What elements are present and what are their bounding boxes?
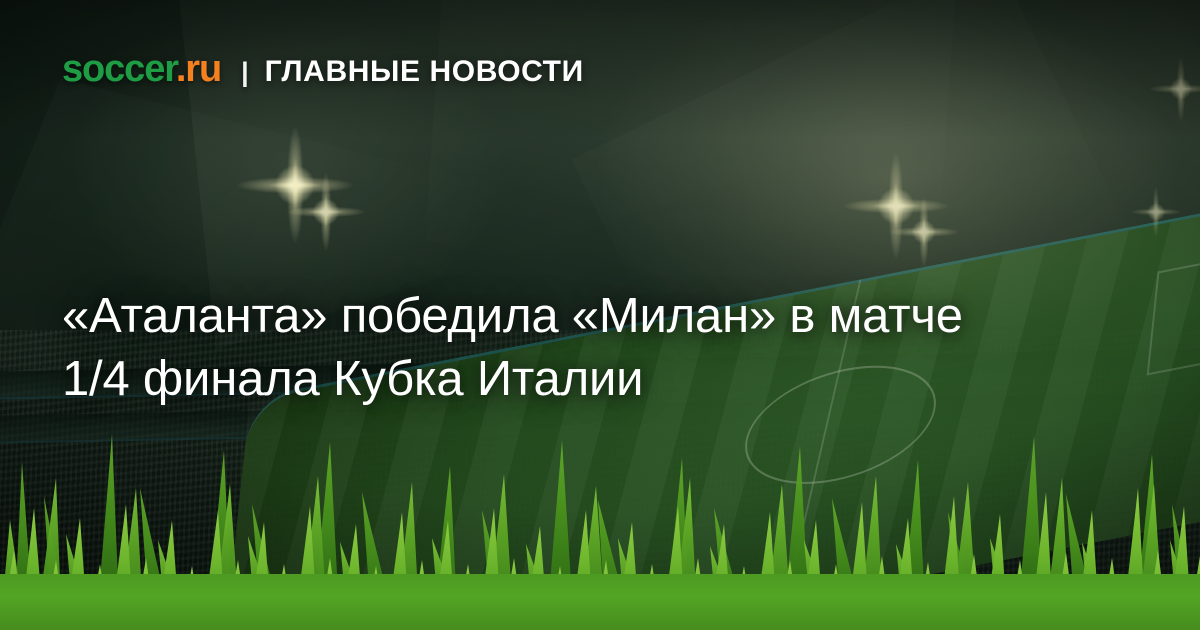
- floodlight-flare-icon: [888, 196, 960, 268]
- section-label: ГЛАВНЫЕ НОВОСТИ: [265, 57, 584, 87]
- floodlight-flare-icon: [236, 126, 354, 244]
- floodlight-flare-icon: [286, 172, 366, 252]
- floodlight-flare-icon: [842, 152, 950, 260]
- site-header: soccer.ru | ГЛАВНЫЕ НОВОСТИ: [62, 50, 584, 88]
- pitch-mow-stripes: [217, 193, 1200, 630]
- social-share-card: soccer.ru | ГЛАВНЫЕ НОВОСТИ «Аталанта» п…: [0, 0, 1200, 630]
- site-logo-name: soccer: [62, 48, 176, 90]
- header-divider: |: [241, 59, 249, 86]
- site-logo-tld: .ru: [176, 48, 221, 90]
- site-logo[interactable]: soccer.ru: [62, 50, 221, 88]
- article-headline: «Аталанта» победила «Милан» в матче 1/4 …: [62, 285, 1022, 410]
- floodlight-flare-icon: [1148, 56, 1200, 122]
